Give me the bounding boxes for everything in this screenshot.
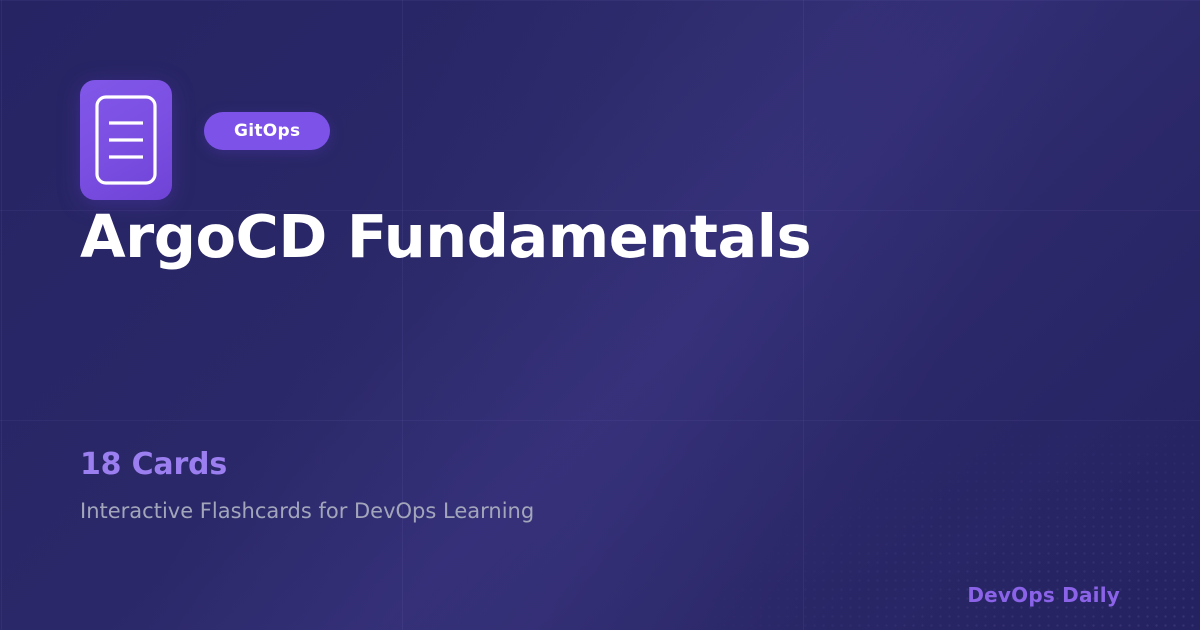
banner-header-row: GitOps [80, 80, 330, 200]
deck-title: ArgoCD Fundamentals [80, 203, 811, 271]
flashcard-stack-icon [80, 80, 172, 200]
deck-subtitle: Interactive Flashcards for DevOps Learni… [80, 481, 534, 524]
deck-meta: 18 Cards Interactive Flashcards for DevO… [80, 448, 534, 524]
category-badge[interactable]: GitOps [204, 112, 330, 150]
category-badge-label: GitOps [234, 121, 300, 141]
card-count-label: 18 Cards [80, 448, 534, 481]
brand-wordmark: DevOps Daily [967, 583, 1120, 607]
flashcard-deck-banner: GitOps ArgoCD Fundamentals 18 Cards Inte… [0, 0, 1200, 630]
